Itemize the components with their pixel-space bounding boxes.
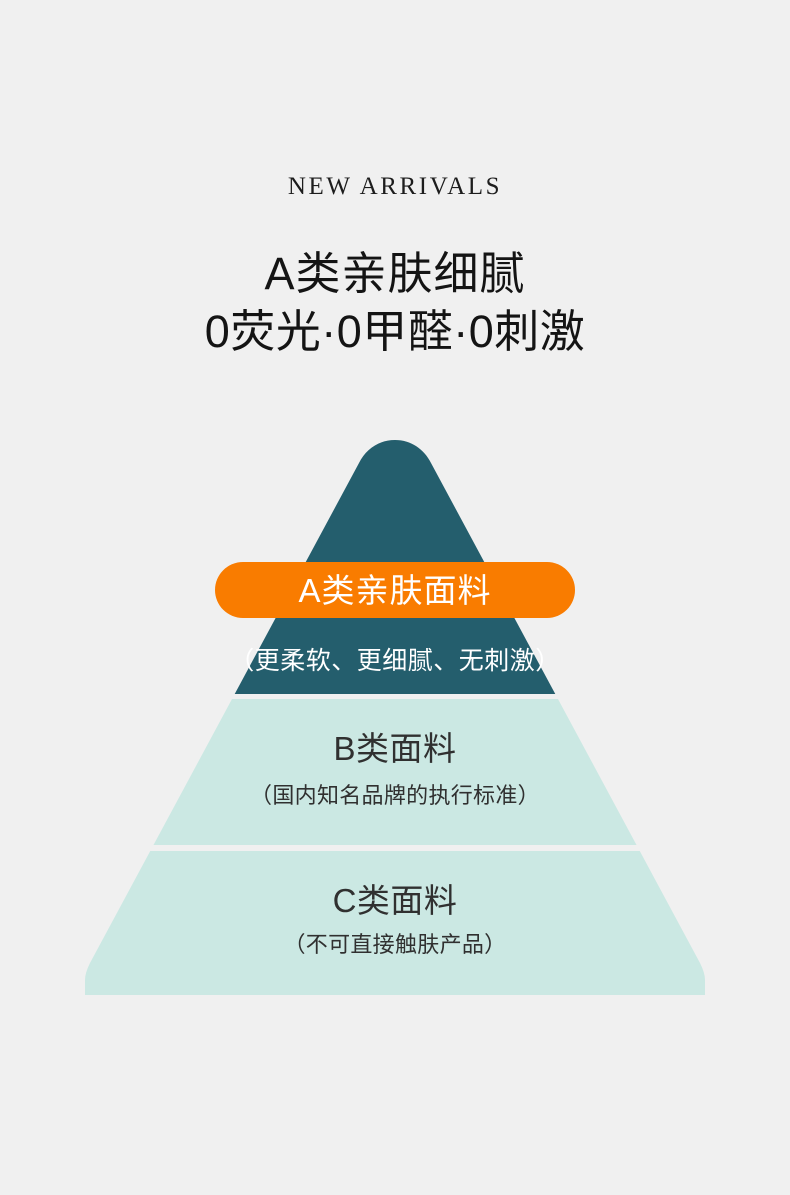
tier-c-title: C类面料 [0, 884, 790, 917]
new-arrivals-fabric-grade-poster: NEW ARRIVALS A类亲肤细腻 0荧光·0甲醛·0刺激 [0, 0, 790, 1195]
tier-b-subtitle: （国内知名品牌的执行标准） [0, 785, 790, 807]
tier-a-subtitle: （更柔软、更细腻、无刺激） [0, 649, 790, 674]
tier-a-badge-label: A类亲肤面料 [298, 574, 491, 607]
tier-a-badge[interactable]: A类亲肤面料 [215, 562, 575, 618]
tier-b-title: B类面料 [0, 732, 790, 765]
tier-c-subtitle: （不可直接触肤产品） [0, 934, 790, 956]
